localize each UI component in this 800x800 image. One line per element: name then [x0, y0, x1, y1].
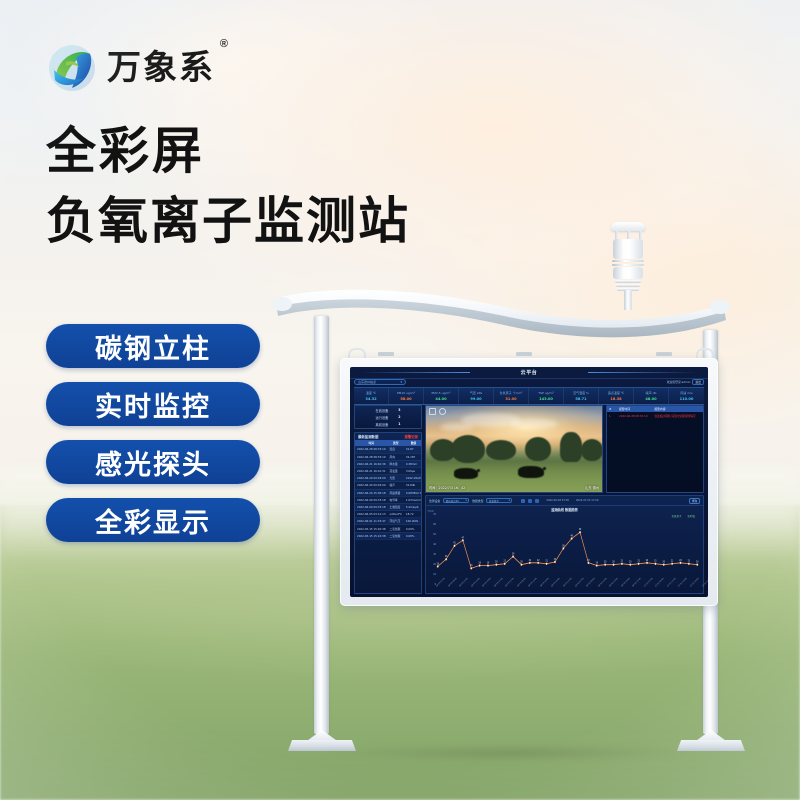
- product-banner: 万象系 ® 全彩屏 负氧离子监测站 碳钢立柱 实时监控 感光探头 全彩显示: [0, 0, 800, 800]
- vignette-overlay: [0, 0, 800, 800]
